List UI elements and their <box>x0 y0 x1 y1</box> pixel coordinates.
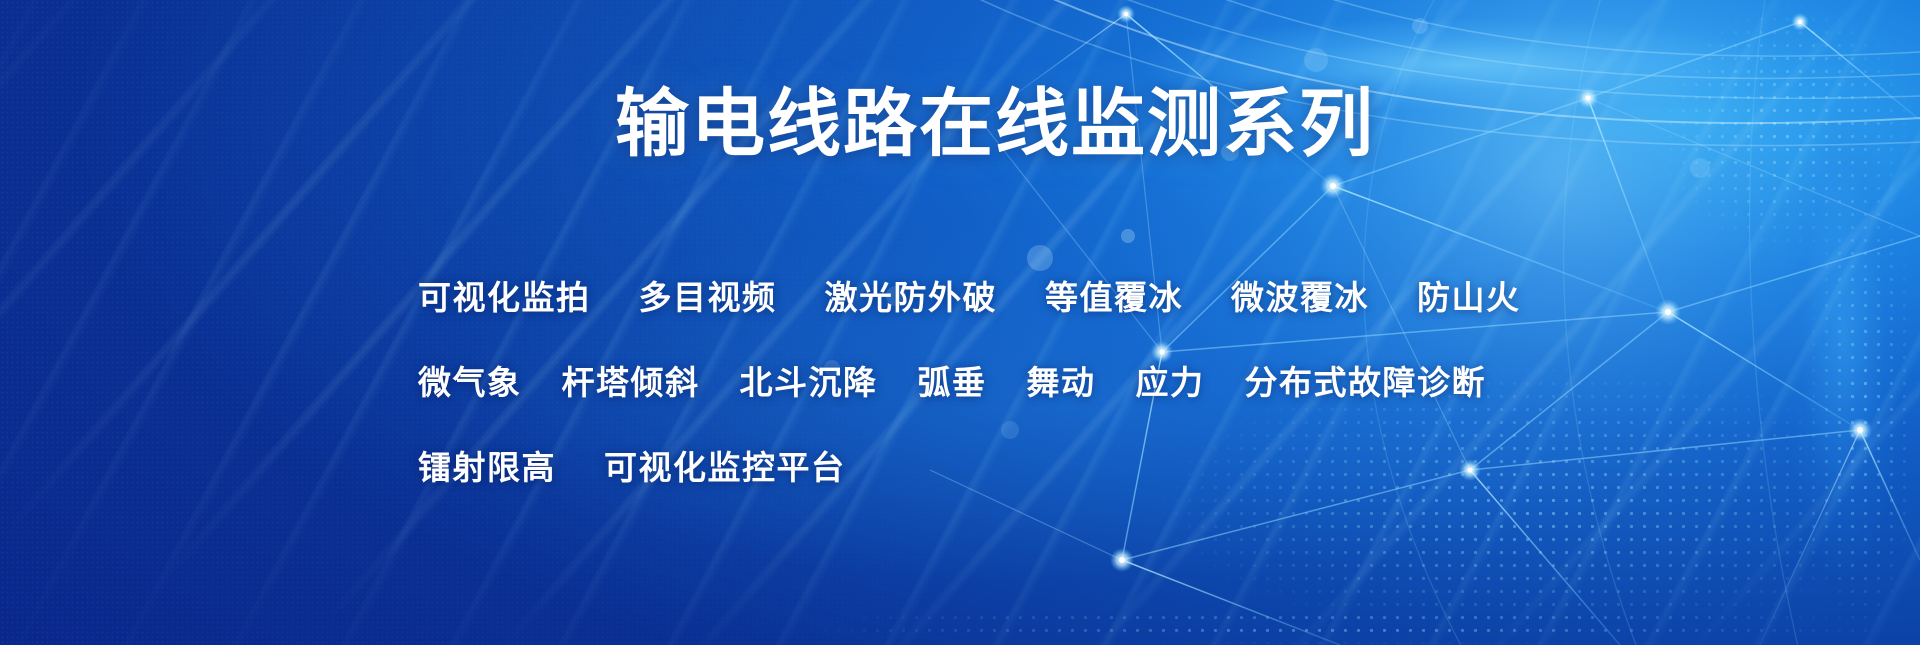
feature-tag-stress[interactable]: 应力 <box>1136 356 1205 404</box>
hero-banner: 输电线路在线监测系列 可视化监拍 多目视频 激光防外破 等值覆冰 微波覆冰 防山… <box>0 0 1920 645</box>
feature-tag-laser-height-limit[interactable]: 镭射限高 <box>418 441 556 489</box>
feature-tag-distributed-fault-diag[interactable]: 分布式故障诊断 <box>1245 356 1487 404</box>
banner-content: 输电线路在线监测系列 可视化监拍 多目视频 激光防外破 等值覆冰 微波覆冰 防山… <box>0 0 1920 645</box>
feature-tag-visual-monitor-platform[interactable]: 可视化监控平台 <box>604 441 846 489</box>
feature-tag-visual-monitoring[interactable]: 可视化监拍 <box>418 271 591 319</box>
feature-tag-laser-anti-damage[interactable]: 激光防外破 <box>825 271 998 319</box>
feature-tag-galloping[interactable]: 舞动 <box>1027 356 1096 404</box>
feature-tag-tower-tilt[interactable]: 杆塔倾斜 <box>562 356 700 404</box>
feature-tag-list: 可视化监拍 多目视频 激光防外破 等值覆冰 微波覆冰 防山火 微气象 杆塔倾斜 … <box>418 252 1598 507</box>
page-title: 输电线路在线监测系列 <box>0 86 1920 164</box>
feature-tag-microwave-icing[interactable]: 微波覆冰 <box>1231 271 1369 319</box>
feature-row-3: 镭射限高 可视化监控平台 <box>418 422 1598 507</box>
feature-tag-sag[interactable]: 弧垂 <box>918 356 987 404</box>
feature-tag-micro-meteorology[interactable]: 微气象 <box>418 356 522 404</box>
feature-row-2: 微气象 杆塔倾斜 北斗沉降 弧垂 舞动 应力 分布式故障诊断 <box>418 337 1598 422</box>
feature-tag-equivalent-icing[interactable]: 等值覆冰 <box>1045 271 1183 319</box>
feature-row-1: 可视化监拍 多目视频 激光防外破 等值覆冰 微波覆冰 防山火 <box>418 252 1598 337</box>
feature-tag-wildfire-prevention[interactable]: 防山火 <box>1417 271 1521 319</box>
feature-tag-beidou-settlement[interactable]: 北斗沉降 <box>740 356 878 404</box>
feature-tag-multi-view-video[interactable]: 多目视频 <box>639 271 777 319</box>
